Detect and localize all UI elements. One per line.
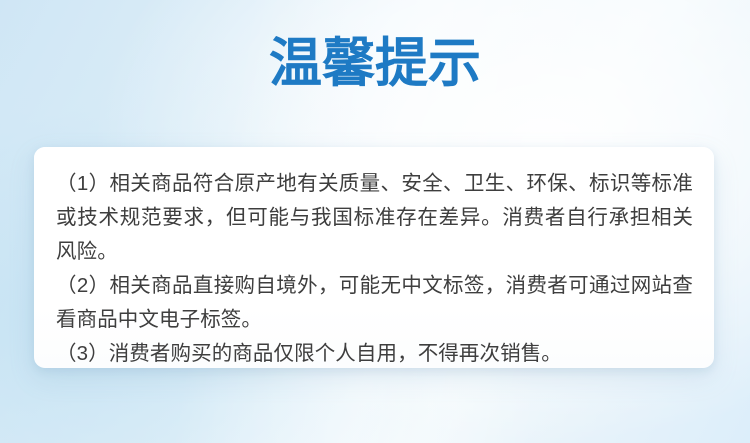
page-title: 温馨提示 [0,33,750,95]
notice-list: （1）相关商品符合原产地有关质量、安全、卫生、环保、标识等标准或技术规范要求，但… [56,167,693,371]
notice-item-1: （1）相关商品符合原产地有关质量、安全、卫生、环保、标识等标准或技术规范要求，但… [56,167,693,269]
notice-item-3: （3）消费者购买的商品仅限个人自用，不得再次销售。 [56,337,693,371]
notice-item-2: （2）相关商品直接购自境外，可能无中文标签，消费者可通过网站查看商品中文电子标签… [56,269,693,337]
notice-page: 温馨提示 （1）相关商品符合原产地有关质量、安全、卫生、环保、标识等标准或技术规… [0,0,750,443]
notice-card: （1）相关商品符合原产地有关质量、安全、卫生、环保、标识等标准或技术规范要求，但… [34,147,714,368]
